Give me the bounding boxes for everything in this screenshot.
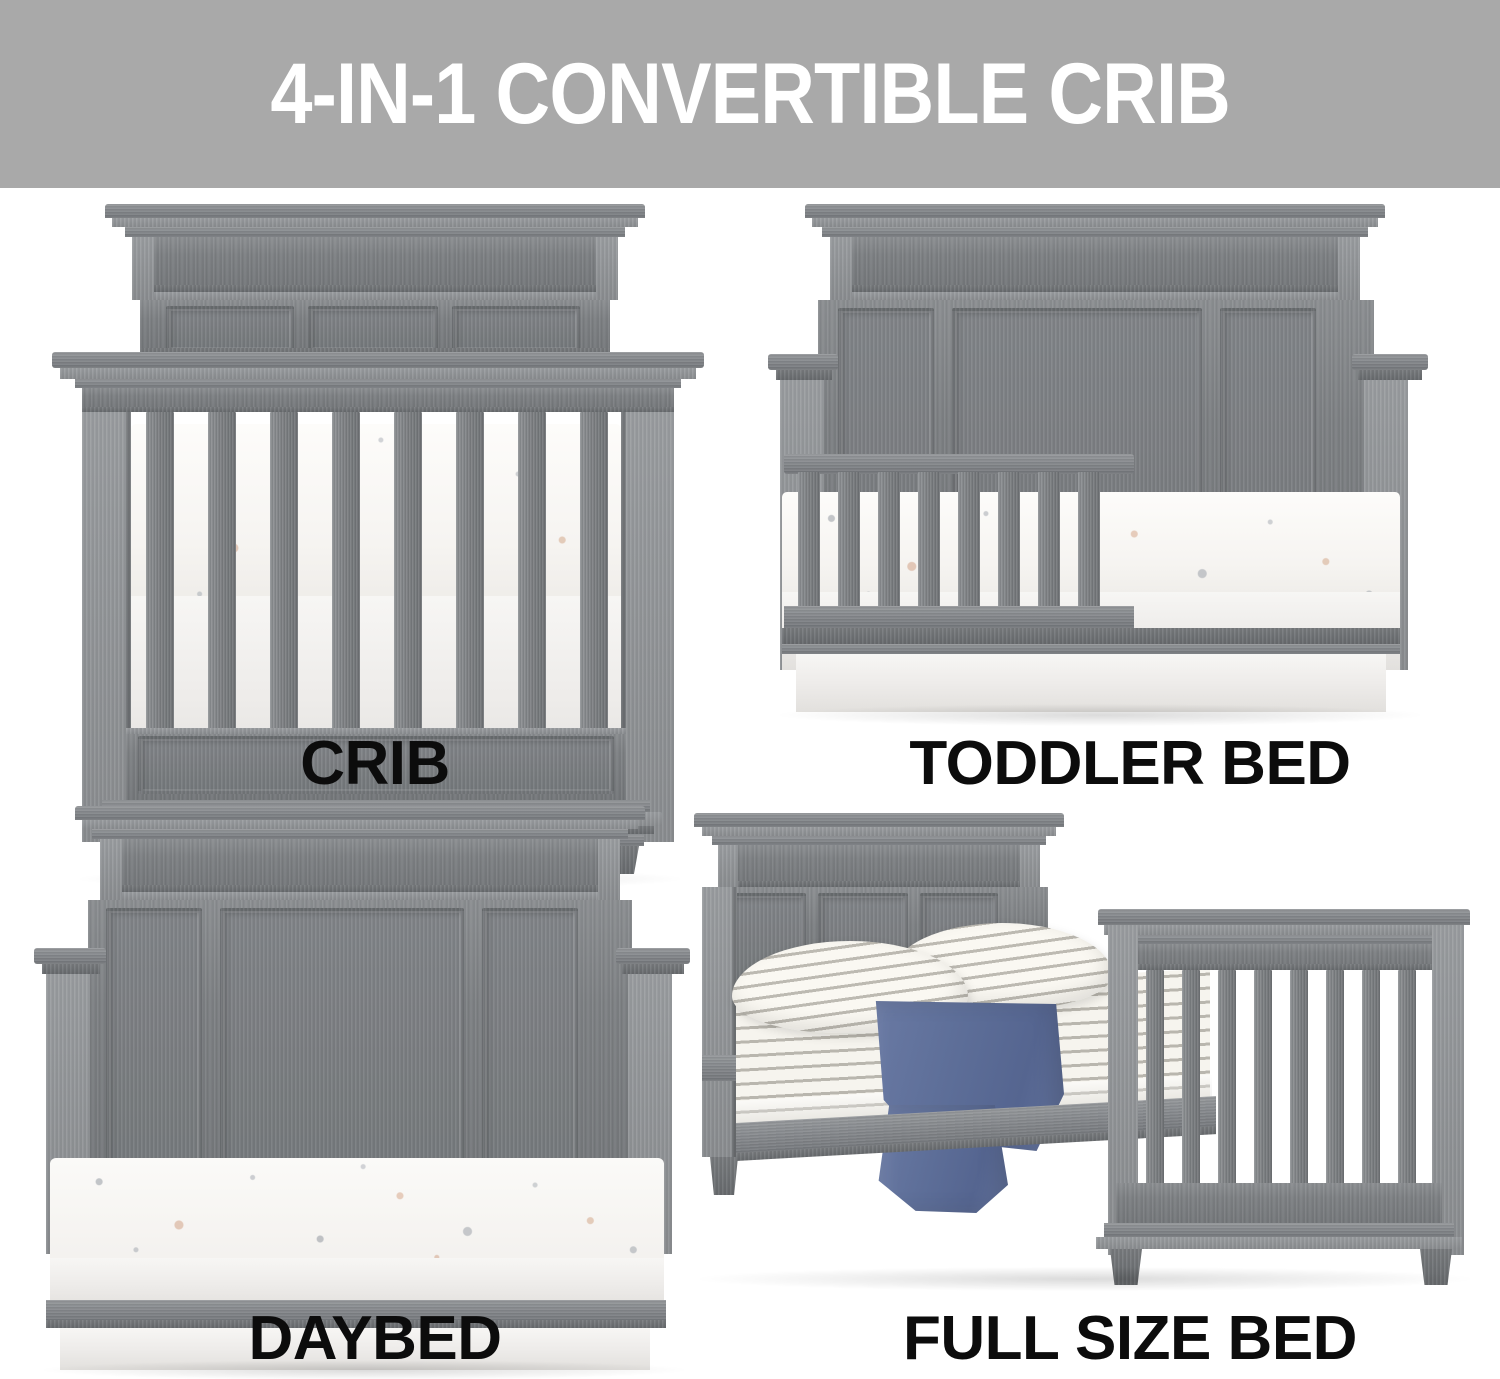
fullsize-bed-illustration [680, 805, 1490, 1300]
caption-fullsize: FULL SIZE BED [760, 1308, 1500, 1370]
daybed-illustration [20, 800, 700, 1300]
panel-toddler [760, 196, 1480, 726]
panel-crib [20, 196, 730, 726]
daybed-mattress [50, 1158, 664, 1266]
infographic-page: 4-IN-1 CONVERTIBLE CRIB [0, 0, 1500, 1379]
header-banner: 4-IN-1 CONVERTIBLE CRIB [0, 0, 1500, 188]
toddler-bed-illustration [760, 196, 1480, 726]
page-title: 4-IN-1 CONVERTIBLE CRIB [270, 51, 1229, 137]
caption-daybed: DAYBED [0, 1308, 750, 1370]
crib-mattress [131, 424, 621, 624]
caption-toddler: TODDLER BED [760, 733, 1500, 795]
caption-crib: CRIB [0, 733, 750, 795]
panel-daybed [20, 800, 700, 1300]
panel-fullsize [680, 805, 1490, 1300]
crib-illustration [20, 196, 730, 726]
